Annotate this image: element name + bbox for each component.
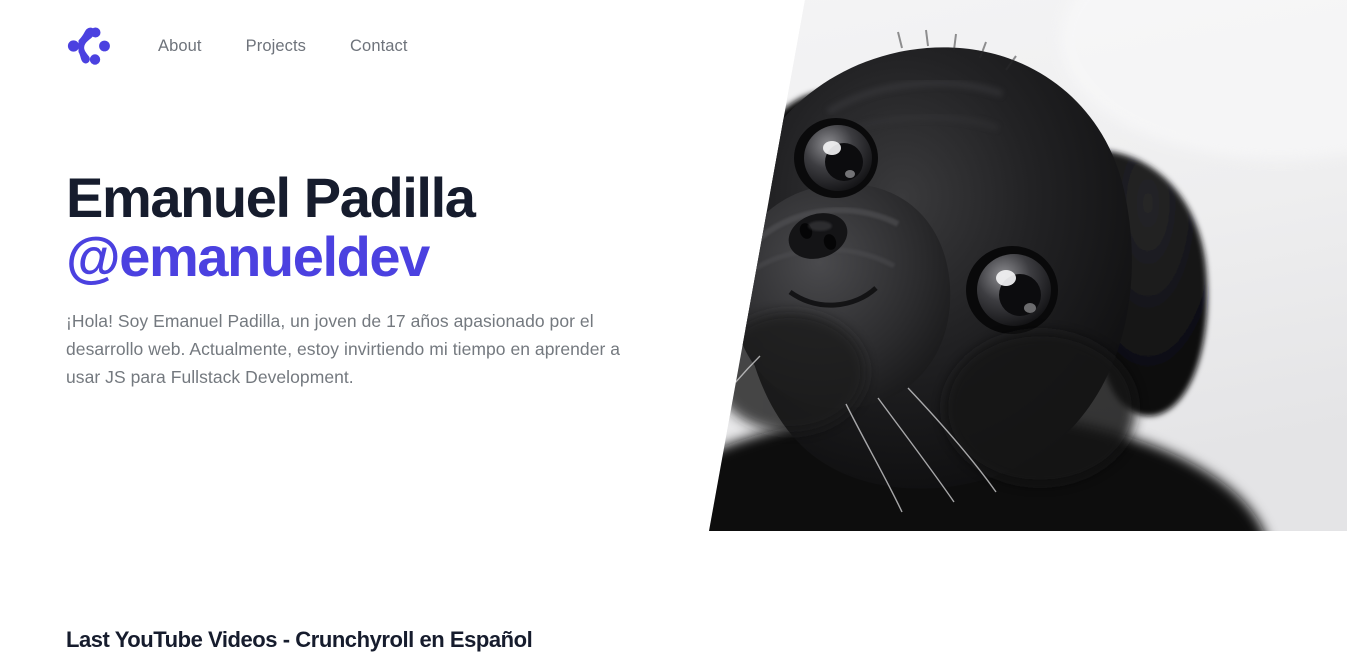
brand-logo-link[interactable]	[66, 23, 112, 69]
nav-item-about: About	[158, 32, 246, 61]
nav-link-projects[interactable]: Projects	[246, 32, 306, 61]
hero-title: Emanuel Padilla @emanueldev	[66, 168, 666, 287]
hero-handle: @emanueldev	[66, 227, 666, 286]
nav-link-contact[interactable]: Contact	[350, 32, 408, 61]
nav-links-list: About Projects Contact	[158, 32, 408, 61]
hero-name: Emanuel Padilla	[66, 166, 475, 229]
hero-section: Emanuel Padilla @emanueldev ¡Hola! Soy E…	[66, 168, 666, 392]
emanueldev-logo-icon	[66, 23, 112, 69]
top-navigation: About Projects Contact	[0, 0, 640, 92]
youtube-videos-heading: Last YouTube Videos - Crunchyroll en Esp…	[66, 627, 532, 653]
hero-photo	[640, 0, 1347, 531]
hero-image-panel	[640, 0, 1347, 531]
hero-description: ¡Hola! Soy Emanuel Padilla, un joven de …	[66, 307, 642, 392]
nav-link-about[interactable]: About	[158, 32, 202, 61]
nav-item-contact: Contact	[350, 32, 408, 61]
nav-item-projects: Projects	[246, 32, 350, 61]
